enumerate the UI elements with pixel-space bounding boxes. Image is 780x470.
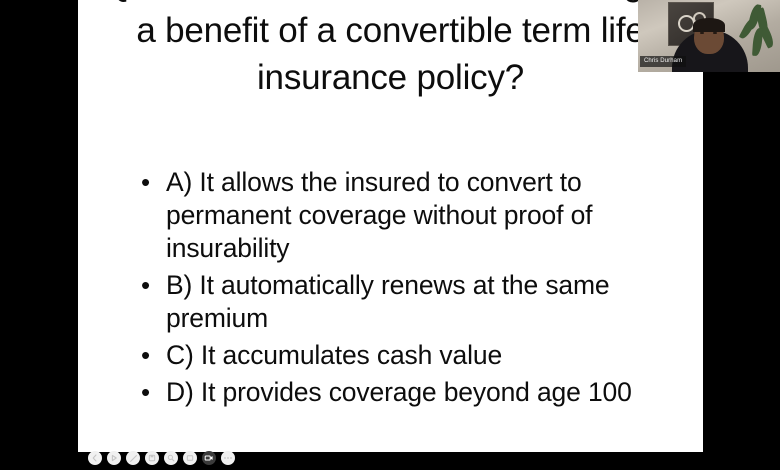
bullet-icon: •: [141, 166, 150, 199]
bullet-text: D) It provides coverage beyond age 100: [166, 377, 632, 407]
participant-name-label: Chris Durham: [640, 56, 686, 67]
list-item: • D) It provides coverage beyond age 100: [136, 376, 681, 409]
fullscreen-icon[interactable]: [183, 451, 197, 465]
play-icon[interactable]: [107, 451, 121, 465]
bullet-text: C) It accumulates cash value: [166, 340, 502, 370]
slide-canvas[interactable]: Question 11: Which of the following is a…: [78, 0, 703, 452]
bullet-icon: •: [141, 376, 150, 409]
person-eye-left: [700, 32, 704, 34]
save-icon[interactable]: [145, 451, 159, 465]
bullet-icon: •: [141, 339, 150, 372]
presentation-toolbar[interactable]: [88, 451, 235, 465]
person-hair: [693, 18, 725, 32]
bullet-icon: •: [141, 269, 150, 302]
plant-icon: [742, 4, 776, 66]
list-item: • B) It automatically renews at the same…: [136, 269, 681, 335]
list-item: • C) It accumulates cash value: [136, 339, 681, 372]
presentation-viewer: Question 11: Which of the following is a…: [0, 0, 780, 470]
back-icon[interactable]: [88, 451, 102, 465]
webcam-overlay[interactable]: Chris Durham: [638, 0, 780, 72]
bullet-text: B) It automatically renews at the same p…: [166, 270, 610, 333]
more-icon[interactable]: [221, 451, 235, 465]
slide-bullet-list: • A) It allows the insured to convert to…: [136, 166, 681, 413]
bullet-text: A) It allows the insured to convert to p…: [166, 167, 592, 263]
search-icon[interactable]: [164, 451, 178, 465]
slide-title: Question 11: Which of the following is a…: [78, 0, 703, 101]
person-eye-right: [713, 32, 717, 34]
pen-icon[interactable]: [126, 451, 140, 465]
video-icon[interactable]: [202, 451, 216, 465]
list-item: • A) It allows the insured to convert to…: [136, 166, 681, 265]
